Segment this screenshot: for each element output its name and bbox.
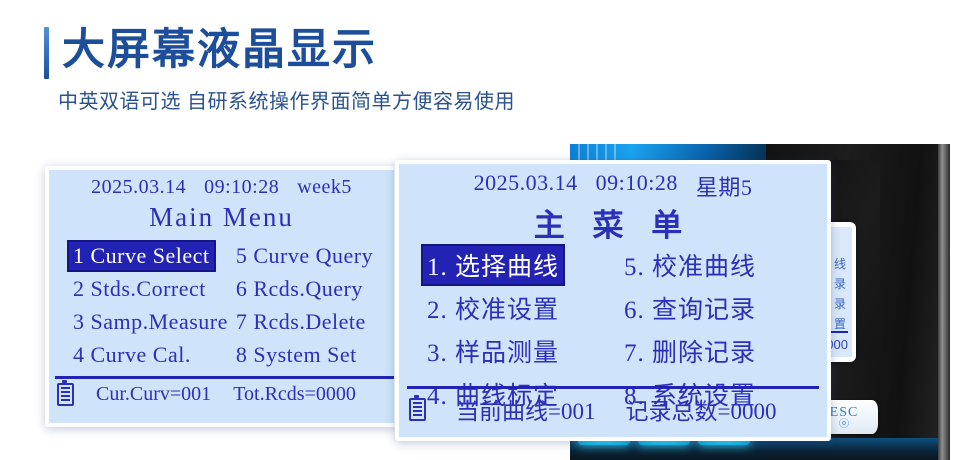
page-subtitle: 中英双语可选 自研系统操作界面简单方便容易使用 <box>58 85 515 114</box>
menu-item-curve-query[interactable]: 5 Curve Query <box>232 242 388 270</box>
page-header: 大屏幕液晶显示 中英双语可选 自研系统操作界面简单方便容易使用 <box>0 0 980 130</box>
status-bar-zh: 2025.03.14 09:10:28 星期5 <box>399 170 827 202</box>
footer-total-records: 记录总数=0000 <box>625 392 776 426</box>
power-icon: ⓞ <box>839 421 849 429</box>
status-date: 2025.03.14 <box>474 170 578 202</box>
status-time: 09:10:28 <box>596 170 678 202</box>
footer-current-curve: 当前曲线=001 <box>456 392 595 426</box>
status-time: 09:10:28 <box>204 176 279 199</box>
accent-bar <box>44 27 49 79</box>
menu-item-calib-settings[interactable]: 2. 校准设置 <box>423 289 620 327</box>
menu-item-delete-records[interactable]: 7. 删除记录 <box>620 332 817 370</box>
chinese-lcd-panel: 2025.03.14 09:10:28 星期5 主 菜 单 1. 选择曲线 5.… <box>395 160 831 441</box>
device-right-edge <box>938 144 950 460</box>
menu-title-zh: 主 菜 单 <box>399 200 827 245</box>
menu-item-calib-curve[interactable]: 5. 校准曲线 <box>620 246 817 284</box>
inset-line: 线 <box>834 255 846 272</box>
menu-grid-en: 1 Curve Select 5 Curve Query 2 Stds.Corr… <box>69 242 388 369</box>
footer-current-curve: Cur.Curv=001 <box>96 383 211 406</box>
footer-divider-en <box>55 376 394 379</box>
menu-item-sample-measure[interactable]: 3. 样品测量 <box>423 332 620 370</box>
footer-bar-zh: 当前曲线=001 记录总数=0000 <box>409 392 827 426</box>
menu-item-samp-measure[interactable]: 3 Samp.Measure <box>69 308 232 336</box>
inset-line: 置 <box>834 315 846 332</box>
english-lcd-screen: 2025.03.14 09:10:28 week5 Main Menu 1 Cu… <box>49 170 394 423</box>
status-bar-en: 2025.03.14 09:10:28 week5 <box>49 176 394 199</box>
footer-total-records: Tot.Rcds=0000 <box>233 383 356 406</box>
battery-icon <box>409 398 426 421</box>
menu-item-query-records[interactable]: 6. 查询记录 <box>620 289 817 327</box>
menu-item-rcds-delete[interactable]: 7 Rcds.Delete <box>232 308 388 336</box>
page-title: 大屏幕液晶显示 <box>62 24 377 78</box>
battery-icon <box>57 383 74 406</box>
status-weekday: 星期5 <box>696 170 753 202</box>
footer-divider-zh <box>407 386 819 389</box>
inset-line: 录 <box>834 295 846 312</box>
footer-bar-en: Cur.Curv=001 Tot.Rcds=0000 <box>57 383 394 406</box>
menu-item-rcds-query[interactable]: 6 Rcds.Query <box>232 275 388 303</box>
english-lcd-panel: 2025.03.14 09:10:28 week5 Main Menu 1 Cu… <box>45 166 398 427</box>
menu-item-system-set[interactable]: 8 System Set <box>232 341 388 369</box>
status-weekday: week5 <box>297 176 352 199</box>
menu-item-curve-select[interactable]: 1 Curve Select <box>69 242 214 270</box>
status-date: 2025.03.14 <box>91 176 186 199</box>
menu-title-en: Main Menu <box>49 202 394 233</box>
menu-item-curve-cal[interactable]: 4 Curve Cal. <box>69 341 232 369</box>
menu-item-select-curve[interactable]: 1. 选择曲线 <box>423 246 563 284</box>
chinese-lcd-screen: 2025.03.14 09:10:28 星期5 主 菜 单 1. 选择曲线 5.… <box>399 164 827 437</box>
inset-line: 录 <box>834 275 846 292</box>
menu-item-stds-correct[interactable]: 2 Stds.Correct <box>69 275 232 303</box>
